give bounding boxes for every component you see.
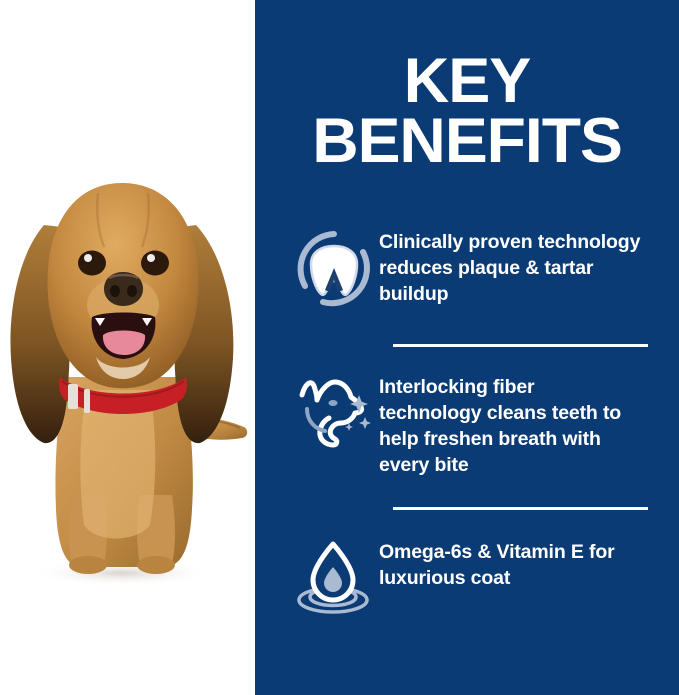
benefit-item-3: Omega-6s & Vitamin E for luxurious coat bbox=[255, 538, 679, 624]
tooth-shield-icon bbox=[293, 228, 379, 314]
product-photo-panel bbox=[0, 0, 255, 695]
benefit-text-2: Interlocking fiber technology cleans tee… bbox=[379, 373, 641, 479]
benefit-text-3: Omega-6s & Vitamin E for luxurious coat bbox=[379, 538, 641, 592]
benefit-item-2: Interlocking fiber technology cleans tee… bbox=[255, 373, 679, 479]
dog-head-sparkle-icon bbox=[293, 373, 379, 459]
key-benefits-banner: KEY BENEFITS Clinically prove bbox=[0, 0, 679, 695]
benefit-item-1: Clinically proven technology reduces pla… bbox=[255, 228, 679, 314]
water-droplet-icon bbox=[293, 538, 379, 624]
collar-buckle bbox=[68, 384, 78, 409]
title-line-1: KEY bbox=[255, 52, 679, 112]
benefit-text-1: Clinically proven technology reduces pla… bbox=[379, 228, 641, 308]
benefit-list: Clinically proven technology reduces pla… bbox=[255, 228, 679, 624]
dog-photo bbox=[0, 165, 252, 585]
benefits-panel: KEY BENEFITS Clinically prove bbox=[255, 0, 679, 695]
title-line-2: BENEFITS bbox=[255, 112, 679, 172]
dog-eye-right bbox=[141, 251, 169, 276]
dog-eye-left bbox=[78, 251, 106, 276]
page-title: KEY BENEFITS bbox=[255, 52, 679, 172]
